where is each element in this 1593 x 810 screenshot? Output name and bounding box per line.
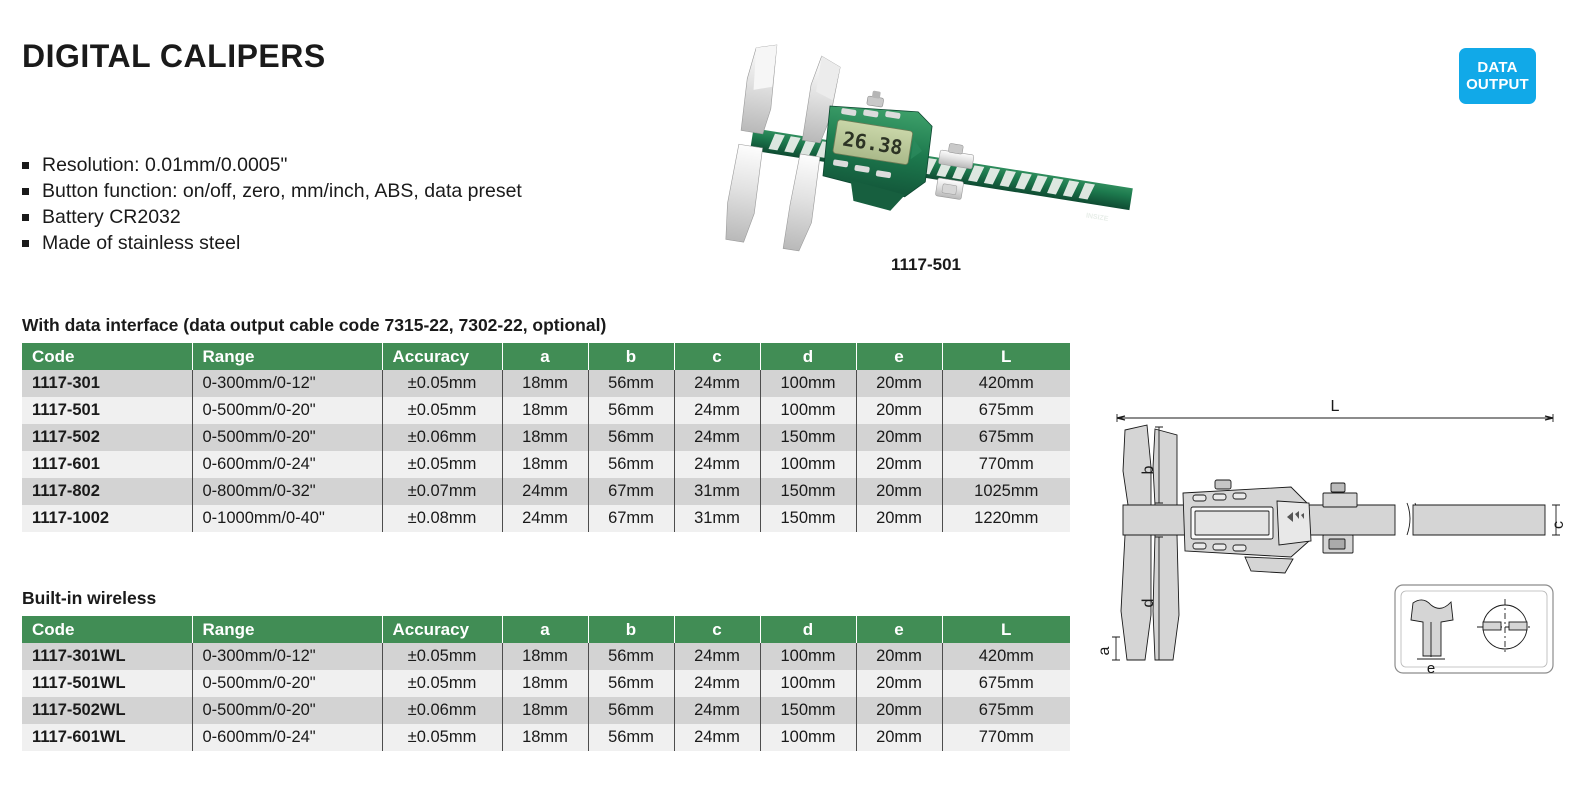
data-output-badge: DATA OUTPUT (1459, 48, 1536, 104)
cell-b: 56mm (588, 424, 674, 451)
cell-b: 56mm (588, 724, 674, 751)
caliper-dimension-diagram: L b c d a e (1095, 375, 1565, 675)
cell-L: 420mm (942, 370, 1070, 397)
cell-c: 24mm (674, 424, 760, 451)
cell-d: 100mm (760, 451, 856, 478)
cell-c: 24mm (674, 643, 760, 670)
cell-a: 24mm (502, 478, 588, 505)
cell-range: 0-600mm/0-24" (192, 451, 382, 478)
cell-e: 20mm (856, 478, 942, 505)
cell-range: 0-500mm/0-20" (192, 397, 382, 424)
product-photo: INSIZE 26.38 (716, 40, 1136, 260)
col-header-e: e (856, 616, 942, 643)
cell-range: 0-600mm/0-24" (192, 724, 382, 751)
cell-a: 18mm (502, 397, 588, 424)
cell-c: 31mm (674, 478, 760, 505)
product-photo-caption: 1117-501 (716, 255, 1136, 275)
cell-code: 1117-301 (22, 370, 192, 397)
cell-a: 24mm (502, 505, 588, 532)
cell-e: 20mm (856, 697, 942, 724)
page-title: DIGITAL CALIPERS (22, 38, 326, 75)
feature-item: Resolution: 0.01mm/0.0005" (22, 152, 522, 178)
feature-item: Battery CR2032 (22, 204, 522, 230)
col-header-b: b (588, 343, 674, 370)
cell-a: 18mm (502, 670, 588, 697)
col-header-d: d (760, 343, 856, 370)
cell-a: 18mm (502, 724, 588, 751)
table-row: 1117-501 0-500mm/0-20" ±0.05mm 18mm 56mm… (22, 397, 1070, 424)
cell-accuracy: ±0.05mm (382, 724, 502, 751)
cell-range: 0-300mm/0-12" (192, 370, 382, 397)
col-header-code: Code (22, 616, 192, 643)
cell-b: 56mm (588, 370, 674, 397)
cell-L: 675mm (942, 670, 1070, 697)
table-row: 1117-301WL 0-300mm/0-12" ±0.05mm 18mm 56… (22, 643, 1070, 670)
cell-d: 150mm (760, 697, 856, 724)
badge-line-1: DATA (1477, 59, 1517, 76)
feature-list: Resolution: 0.01mm/0.0005" Button functi… (22, 152, 522, 256)
cell-b: 56mm (588, 397, 674, 424)
cell-e: 20mm (856, 724, 942, 751)
col-header-range: Range (192, 343, 382, 370)
cell-e: 20mm (856, 670, 942, 697)
cell-a: 18mm (502, 697, 588, 724)
table-row: 1117-502 0-500mm/0-20" ±0.06mm 18mm 56mm… (22, 424, 1070, 451)
cell-c: 24mm (674, 370, 760, 397)
table-row: 1117-601WL 0-600mm/0-24" ±0.05mm 18mm 56… (22, 724, 1070, 751)
col-header-c: c (674, 343, 760, 370)
dim-label-d: d (1140, 599, 1157, 608)
cell-d: 100mm (760, 724, 856, 751)
cell-d: 100mm (760, 670, 856, 697)
cell-range: 0-300mm/0-12" (192, 643, 382, 670)
cell-range: 0-500mm/0-20" (192, 424, 382, 451)
cell-e: 20mm (856, 370, 942, 397)
cell-b: 67mm (588, 478, 674, 505)
cell-L: 770mm (942, 451, 1070, 478)
cell-d: 150mm (760, 424, 856, 451)
cell-c: 24mm (674, 397, 760, 424)
cell-accuracy: ±0.07mm (382, 478, 502, 505)
table-row: 1117-1002 0-1000mm/0-40" ±0.08mm 24mm 67… (22, 505, 1070, 532)
table-header-row: Code Range Accuracy a b c d e L (22, 616, 1070, 643)
dim-label-c: c (1550, 521, 1565, 529)
cell-L: 675mm (942, 397, 1070, 424)
cell-b: 56mm (588, 643, 674, 670)
table-row: 1117-502WL 0-500mm/0-20" ±0.06mm 18mm 56… (22, 697, 1070, 724)
cell-a: 18mm (502, 370, 588, 397)
cell-d: 100mm (760, 397, 856, 424)
cell-b: 56mm (588, 451, 674, 478)
cell-code: 1117-301WL (22, 643, 192, 670)
cell-code: 1117-1002 (22, 505, 192, 532)
cell-code: 1117-501 (22, 397, 192, 424)
table-row: 1117-501WL 0-500mm/0-20" ±0.05mm 18mm 56… (22, 670, 1070, 697)
cell-e: 20mm (856, 505, 942, 532)
cell-accuracy: ±0.08mm (382, 505, 502, 532)
table-2-caption: Built-in wireless (22, 588, 156, 609)
cell-d: 150mm (760, 505, 856, 532)
cell-code: 1117-802 (22, 478, 192, 505)
col-header-b: b (588, 616, 674, 643)
col-header-L: L (942, 616, 1070, 643)
cell-b: 67mm (588, 505, 674, 532)
cell-e: 20mm (856, 397, 942, 424)
cell-a: 18mm (502, 643, 588, 670)
col-header-a: a (502, 343, 588, 370)
cell-accuracy: ±0.05mm (382, 643, 502, 670)
col-header-accuracy: Accuracy (382, 343, 502, 370)
cell-d: 100mm (760, 370, 856, 397)
dim-label-b: b (1140, 465, 1157, 474)
cell-L: 1220mm (942, 505, 1070, 532)
svg-text:INSIZE: INSIZE (1085, 212, 1109, 222)
cell-L: 1025mm (942, 478, 1070, 505)
cell-accuracy: ±0.05mm (382, 397, 502, 424)
cell-L: 675mm (942, 424, 1070, 451)
cell-c: 24mm (674, 451, 760, 478)
col-header-d: d (760, 616, 856, 643)
dim-label-L: L (1331, 398, 1340, 415)
cell-c: 31mm (674, 505, 760, 532)
cell-c: 24mm (674, 697, 760, 724)
spec-table-built-in-wireless: Code Range Accuracy a b c d e L 1117-301… (22, 616, 1070, 751)
feature-item: Made of stainless steel (22, 230, 522, 256)
cell-L: 420mm (942, 643, 1070, 670)
technical-drawing: L b c d a e (1095, 375, 1565, 675)
cell-code: 1117-502 (22, 424, 192, 451)
feature-item: Button function: on/off, zero, mm/inch, … (22, 178, 522, 204)
cell-accuracy: ±0.05mm (382, 370, 502, 397)
cell-accuracy: ±0.06mm (382, 424, 502, 451)
table-row: 1117-301 0-300mm/0-12" ±0.05mm 18mm 56mm… (22, 370, 1070, 397)
datasheet-page: DIGITAL CALIPERS Resolution: 0.01mm/0.00… (0, 0, 1593, 810)
caliper-illustration: INSIZE 26.38 (716, 40, 1136, 260)
cell-accuracy: ±0.05mm (382, 451, 502, 478)
cell-d: 100mm (760, 643, 856, 670)
col-header-a: a (502, 616, 588, 643)
cell-range: 0-500mm/0-20" (192, 697, 382, 724)
cell-code: 1117-601 (22, 451, 192, 478)
cell-b: 56mm (588, 670, 674, 697)
cell-accuracy: ±0.05mm (382, 670, 502, 697)
cell-code: 1117-502WL (22, 697, 192, 724)
col-header-e: e (856, 343, 942, 370)
cell-c: 24mm (674, 724, 760, 751)
col-header-accuracy: Accuracy (382, 616, 502, 643)
col-header-c: c (674, 616, 760, 643)
cell-range: 0-800mm/0-32" (192, 478, 382, 505)
cell-range: 0-500mm/0-20" (192, 670, 382, 697)
cell-e: 20mm (856, 451, 942, 478)
cell-code: 1117-601WL (22, 724, 192, 751)
cell-a: 18mm (502, 424, 588, 451)
table-row: 1117-601 0-600mm/0-24" ±0.05mm 18mm 56mm… (22, 451, 1070, 478)
dim-label-a: a (1096, 646, 1113, 655)
col-header-L: L (942, 343, 1070, 370)
cell-accuracy: ±0.06mm (382, 697, 502, 724)
cell-L: 770mm (942, 724, 1070, 751)
cell-e: 20mm (856, 643, 942, 670)
cell-c: 24mm (674, 670, 760, 697)
col-header-range: Range (192, 616, 382, 643)
col-header-code: Code (22, 343, 192, 370)
cell-d: 150mm (760, 478, 856, 505)
table-1-caption: With data interface (data output cable c… (22, 315, 606, 336)
cell-e: 20mm (856, 424, 942, 451)
table-header-row: Code Range Accuracy a b c d e L (22, 343, 1070, 370)
cell-code: 1117-501WL (22, 670, 192, 697)
cell-range: 0-1000mm/0-40" (192, 505, 382, 532)
cell-b: 56mm (588, 697, 674, 724)
spec-table-data-interface: Code Range Accuracy a b c d e L 1117-301… (22, 343, 1070, 532)
cell-a: 18mm (502, 451, 588, 478)
table-row: 1117-802 0-800mm/0-32" ±0.07mm 24mm 67mm… (22, 478, 1070, 505)
dim-label-e-inset: e (1427, 660, 1435, 675)
badge-line-2: OUTPUT (1466, 76, 1529, 93)
cell-L: 675mm (942, 697, 1070, 724)
